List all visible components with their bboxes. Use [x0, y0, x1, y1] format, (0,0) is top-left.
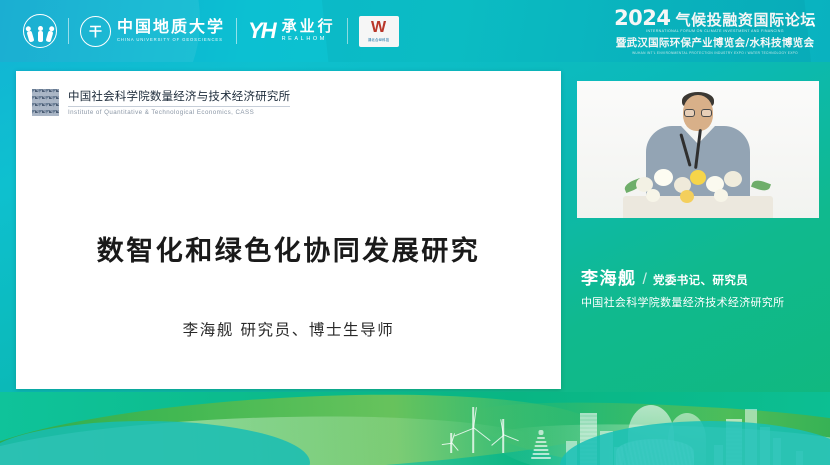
- decorative-bottom-band: [0, 392, 830, 465]
- bird-icon: W: [371, 20, 386, 36]
- forum-title-en: INTERNATIONAL FORUM ON CLIMATE INVESTMEN…: [646, 29, 784, 33]
- speaker-name: 李海舰: [581, 264, 637, 289]
- sponsor-logo-cug: 干 中国地质大学 CHINA UNIVERSITY OF GEOSCIENCES: [69, 11, 236, 51]
- sponsor-logo-strip: 干 中国地质大学 CHINA UNIVERSITY OF GEOSCIENCES…: [12, 10, 410, 52]
- cass-emblem-icon: [32, 89, 59, 116]
- sponsor-logo-realhom: YH 承业行 REALHOM: [237, 11, 347, 51]
- boxed-logo-caption: 湖北合纵科技: [368, 37, 390, 42]
- wind-turbine-icon: [488, 419, 518, 453]
- slide-presenter: 李海舰 研究员、博士生导师: [16, 318, 561, 340]
- people-circle-icon: [23, 14, 57, 48]
- speaker-separator: /: [643, 271, 647, 289]
- cug-seal-icon: 干: [80, 16, 111, 47]
- institute-name-cn: 中国社会科学院数量经济与技术经济研究所: [68, 89, 290, 103]
- realhom-name-cn: 承业行: [282, 19, 336, 34]
- sponsor-logo-people: [12, 11, 68, 51]
- flower-arrangement: [618, 158, 778, 204]
- event-header-bar: 干 中国地质大学 CHINA UNIVERSITY OF GEOSCIENCES…: [0, 0, 830, 62]
- realhom-name-en: REALHOM: [282, 37, 336, 43]
- eyeglasses-icon: [684, 109, 712, 117]
- broadcast-screen: 干 中国地质大学 CHINA UNIVERSITY OF GEOSCIENCES…: [0, 0, 830, 465]
- speaker-nameplate: 李海舰 / 党委书记、研究员 中国社会科学院数量经济技术经济研究所: [577, 258, 819, 316]
- institute-logo-block: 中国社会科学院数量经济与技术经济研究所 Institute of Quantit…: [32, 89, 290, 116]
- pagoda-icon: [530, 429, 552, 459]
- wind-turbine-icon: [442, 433, 460, 453]
- institute-name-en: Institute of Quantitative & Technologica…: [68, 109, 290, 116]
- cug-name-cn: 中国地质大学: [117, 19, 225, 35]
- sponsor-logo-boxed: W 湖北合纵科技: [348, 11, 410, 51]
- slide-title: 数智化和绿色化协同发展研究: [16, 229, 561, 268]
- forum-title-cn: 气候投融资国际论坛: [676, 13, 816, 28]
- presentation-slide: 中国社会科学院数量经济与技术经济研究所 Institute of Quantit…: [16, 71, 561, 389]
- logo-divider: [347, 18, 348, 44]
- institute-rule: [68, 106, 290, 107]
- speaker-video-feed: [577, 81, 819, 218]
- forum-wordmark: 2024 气候投融资国际论坛 INTERNATIONAL FORUM ON CL…: [608, 12, 822, 52]
- cug-name-en: CHINA UNIVERSITY OF GEOSCIENCES: [117, 38, 225, 42]
- speaker-organization: 中国社会科学院数量经济技术经济研究所: [581, 294, 819, 310]
- forum-year: 2024: [614, 9, 670, 28]
- forum-subtitle-en: WUHAN INT'L ENVIRONMENTAL PROTECTION IND…: [632, 51, 798, 55]
- speaker-title: 党委书记、研究员: [653, 272, 748, 288]
- realhom-mark-icon: YH: [248, 18, 275, 44]
- forum-subtitle-cn: 暨武汉国际环保产业博览会/水科技博览会: [616, 35, 815, 50]
